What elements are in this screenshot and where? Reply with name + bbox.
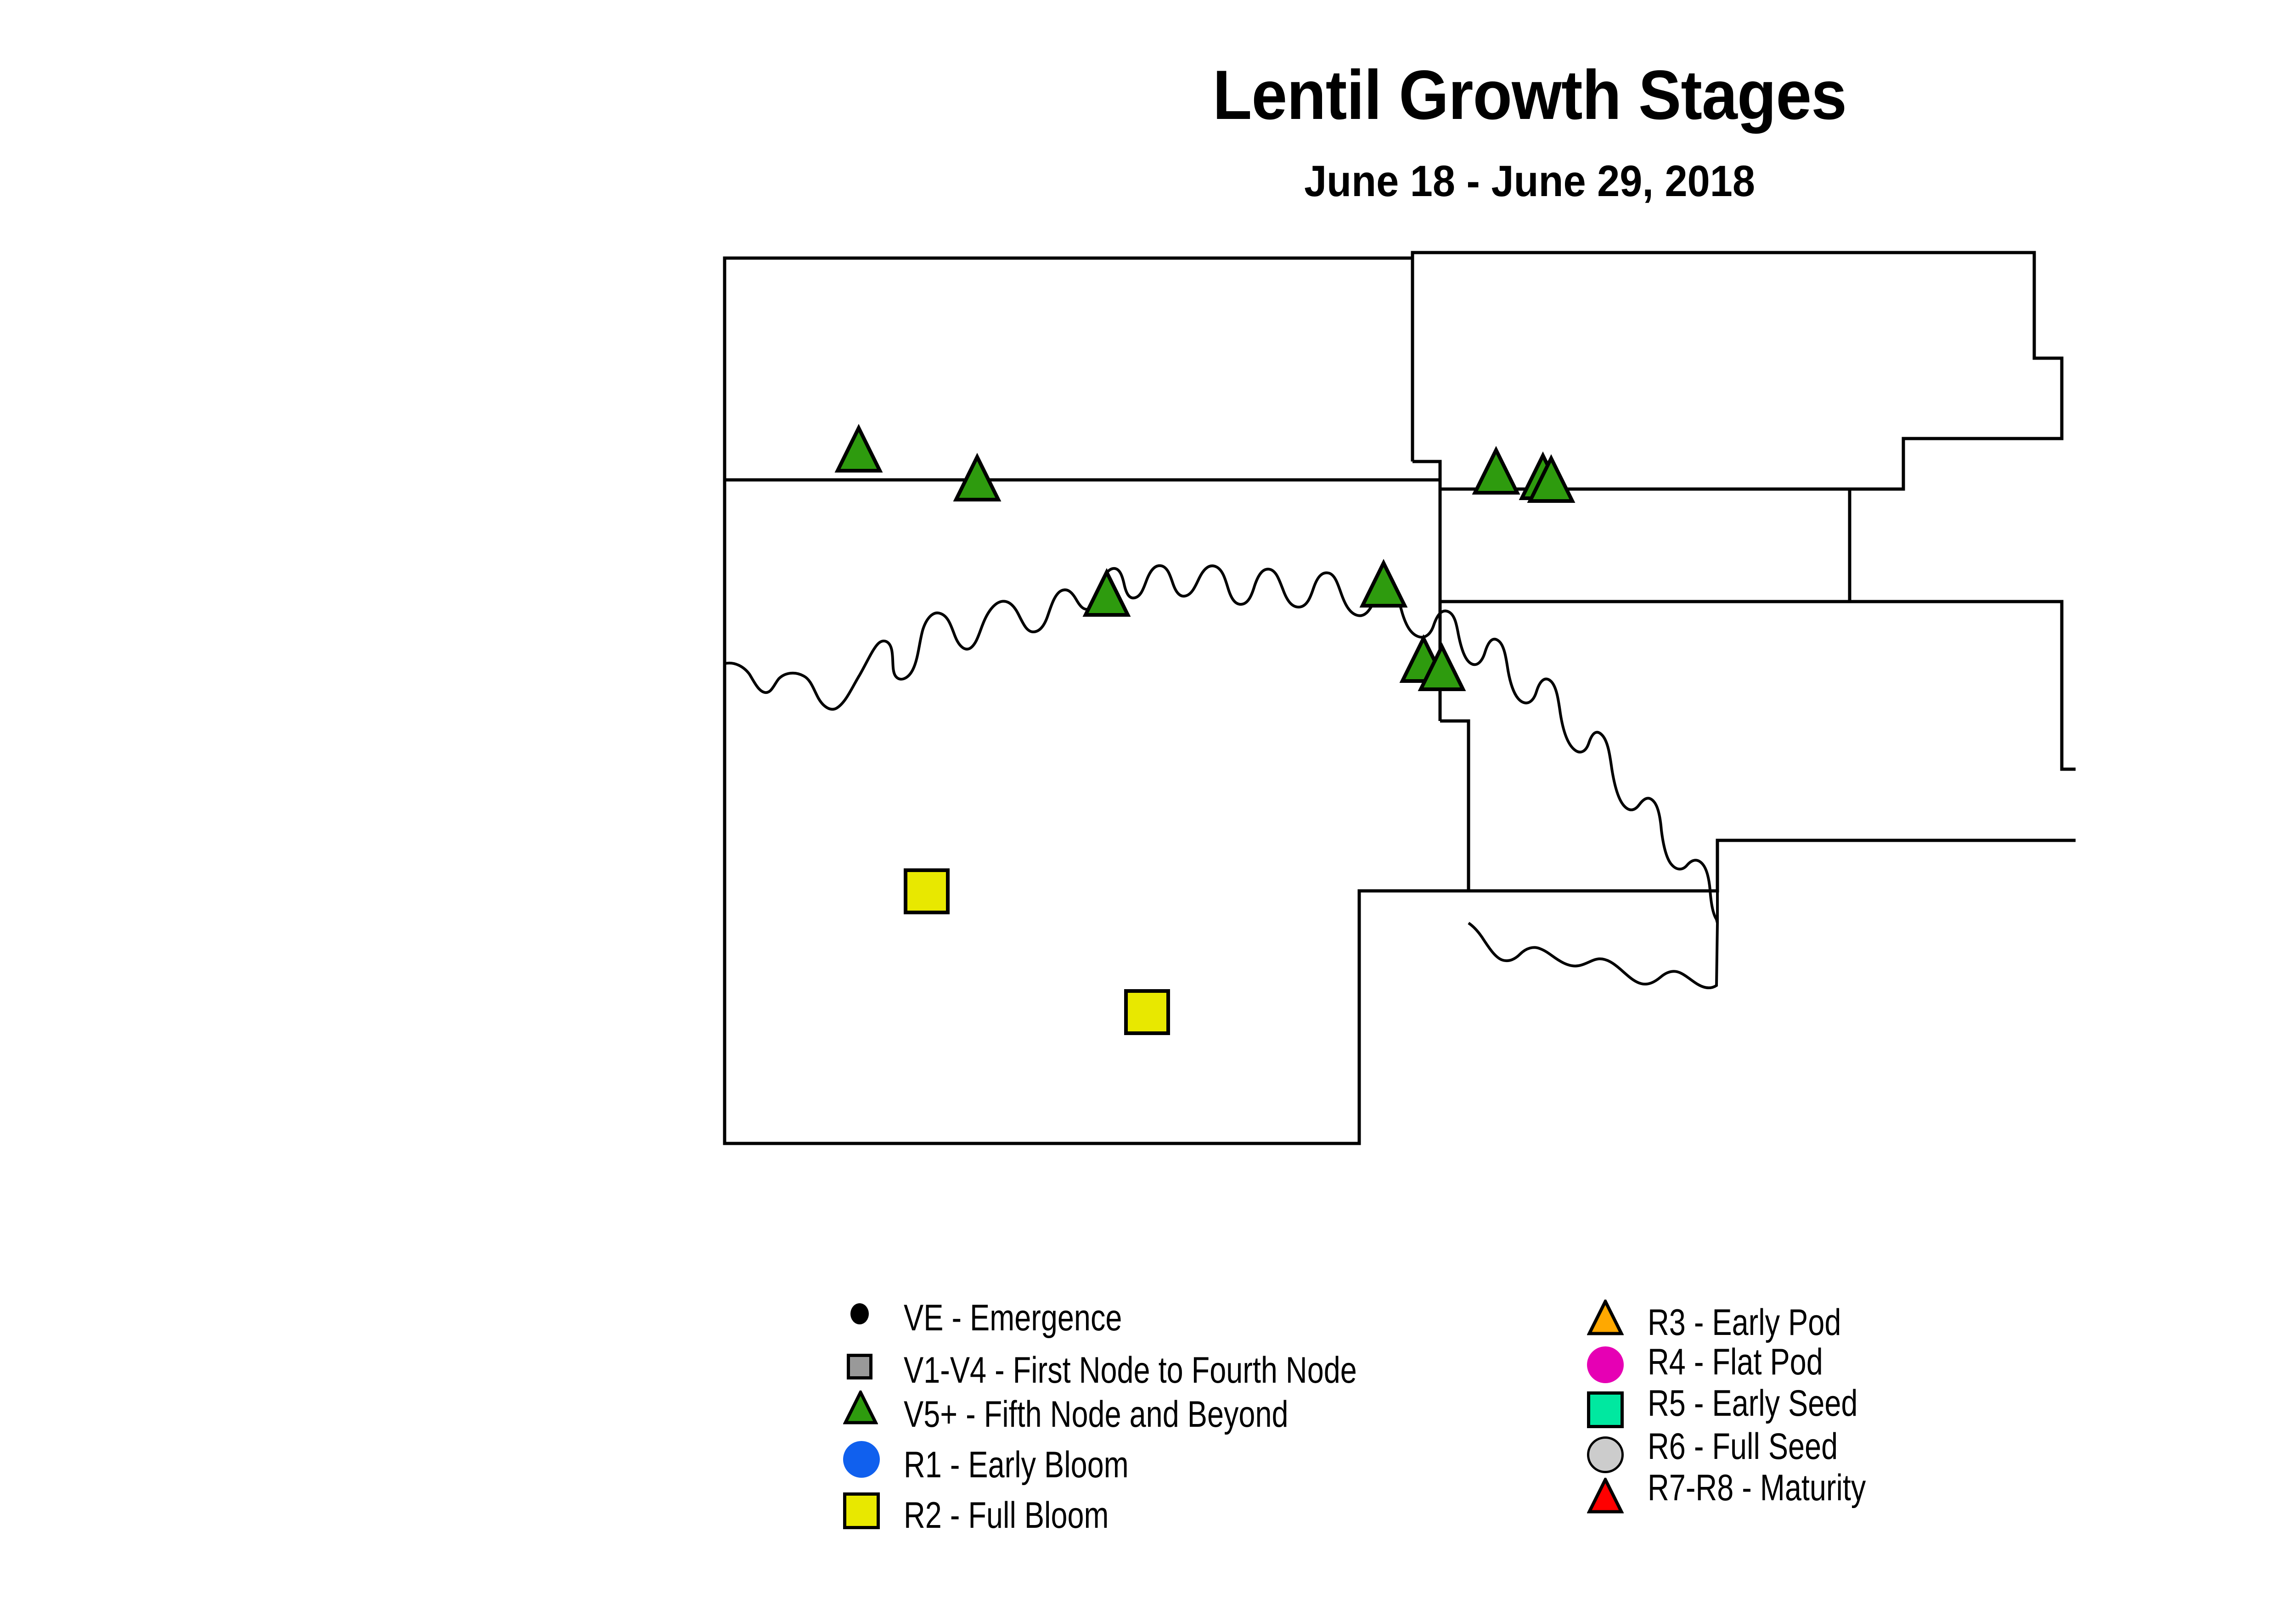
map-container [716, 248, 2076, 1249]
legend-item-label: R1 - Early Bloom [904, 1447, 1129, 1484]
v1v4-square-marker [847, 1354, 872, 1379]
river-boundary [725, 566, 1717, 923]
marker-r2-full-bloom[interactable] [1126, 991, 1168, 1033]
marker-v5plus[interactable] [1362, 563, 1405, 606]
page-subtitle: June 18 - June 29, 2018 [122, 156, 2296, 207]
ve-emergence-circle-marker [850, 1303, 869, 1324]
legend-item-label: R6 - Full Seed [1648, 1428, 1838, 1465]
region-outer-boundary [725, 253, 2076, 1143]
marker-v5plus[interactable] [838, 428, 880, 471]
marker-layer [838, 428, 1572, 1033]
county-divider-step-lower [1440, 721, 1469, 891]
legend-item-label: V1-V4 - First Node to Fourth Node [904, 1352, 1357, 1389]
legend: VE - Emergence V1-V4 - First Node to Fou… [799, 1300, 2296, 1584]
r5-early-seed-square-marker [1587, 1391, 1624, 1428]
v5plus-triangle-marker [843, 1390, 878, 1425]
r7r8-maturity-triangle-marker [1587, 1478, 1624, 1514]
r6-full-seed-circle-marker [1587, 1436, 1624, 1473]
marker-v5plus[interactable] [1475, 450, 1517, 493]
river-boundary-lower-left [1469, 923, 1717, 988]
legend-item-label: VE - Emergence [904, 1300, 1122, 1337]
page-title: Lentil Growth Stages [122, 55, 2296, 135]
county-outline-group [725, 253, 2076, 1143]
r1-early-bloom-circle-marker [843, 1441, 880, 1478]
r3-early-pod-triangle-marker [1587, 1300, 1624, 1336]
r4-flat-pod-circle-marker [1587, 1346, 1624, 1383]
r2-full-bloom-square-marker [843, 1492, 880, 1529]
legend-item-label: R5 - Early Seed [1648, 1385, 1857, 1422]
legend-item-label: V5+ - Fifth Node and Beyond [904, 1396, 1289, 1433]
legend-item-label: R2 - Full Bloom [904, 1497, 1109, 1534]
marker-r2-full-bloom[interactable] [906, 870, 948, 912]
legend-item-label: R3 - Early Pod [1648, 1304, 1841, 1341]
legend-item-label: R4 - Flat Pod [1648, 1344, 1823, 1381]
legend-item-label: R7-R8 - Maturity [1648, 1469, 1866, 1507]
